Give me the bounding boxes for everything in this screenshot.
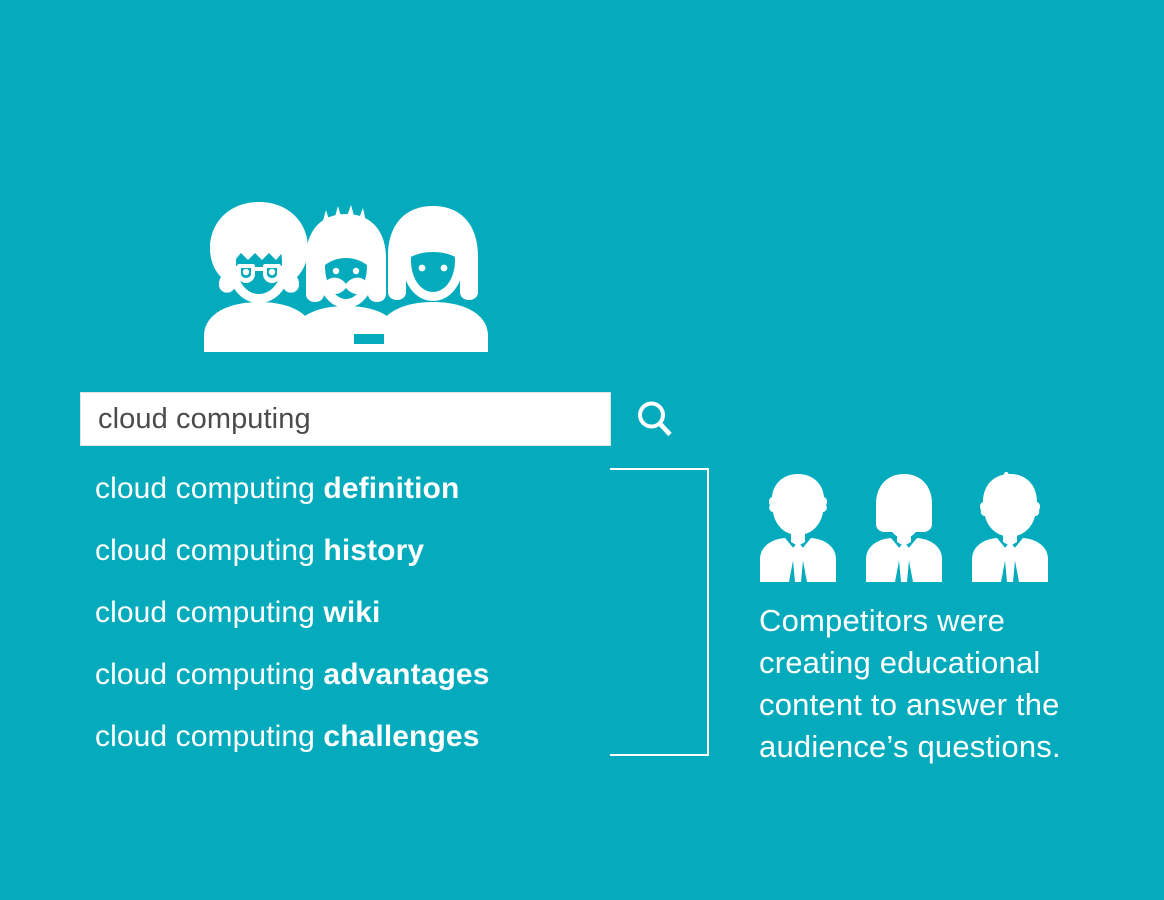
- search-input-value: cloud computing: [81, 405, 311, 434]
- bracket-bottom-arm: [610, 754, 709, 756]
- search-input[interactable]: cloud computing: [80, 392, 611, 446]
- competitor-person-1: [760, 474, 836, 582]
- suggestion-item[interactable]: cloud computing history: [95, 520, 615, 582]
- suggestion-item[interactable]: cloud computing advantages: [95, 644, 615, 706]
- suggestion-item[interactable]: cloud computing wiki: [95, 582, 615, 644]
- suggestion-item[interactable]: cloud computing challenges: [95, 706, 615, 768]
- search-row: cloud computing: [80, 392, 690, 446]
- competitor-person-3: [972, 472, 1048, 582]
- slide-canvas: cloud computing cloud computing definiti…: [0, 0, 1164, 900]
- suggestion-prefix: cloud computing: [95, 720, 323, 753]
- suggestion-suffix: advantages: [323, 658, 489, 691]
- suggestion-suffix: definition: [323, 472, 459, 505]
- suggestion-suffix: wiki: [323, 596, 380, 629]
- suggestion-suffix: history: [323, 534, 424, 567]
- suggestion-item[interactable]: cloud computing definition: [95, 458, 615, 520]
- suggestion-prefix: cloud computing: [95, 596, 323, 629]
- bracket-top-arm: [610, 468, 709, 470]
- suggestions-bracket-connector: [610, 468, 709, 756]
- search-suggestions-list: cloud computing definition cloud computi…: [95, 458, 615, 768]
- person-with-mustache: [291, 205, 401, 352]
- competitors-group-icon: [757, 472, 1052, 582]
- caption-text: Competitors were creating educational co…: [759, 600, 1099, 768]
- suggestion-prefix: cloud computing: [95, 534, 323, 567]
- search-icon[interactable]: [634, 399, 676, 441]
- suggestion-suffix: challenges: [323, 720, 479, 753]
- suggestion-prefix: cloud computing: [95, 472, 323, 505]
- suggestion-prefix: cloud computing: [95, 658, 323, 691]
- bracket-spine: [707, 468, 709, 756]
- audience-group-icon: [196, 196, 496, 352]
- competitor-person-2: [866, 474, 942, 582]
- shirt-pocket-detail: [354, 334, 384, 344]
